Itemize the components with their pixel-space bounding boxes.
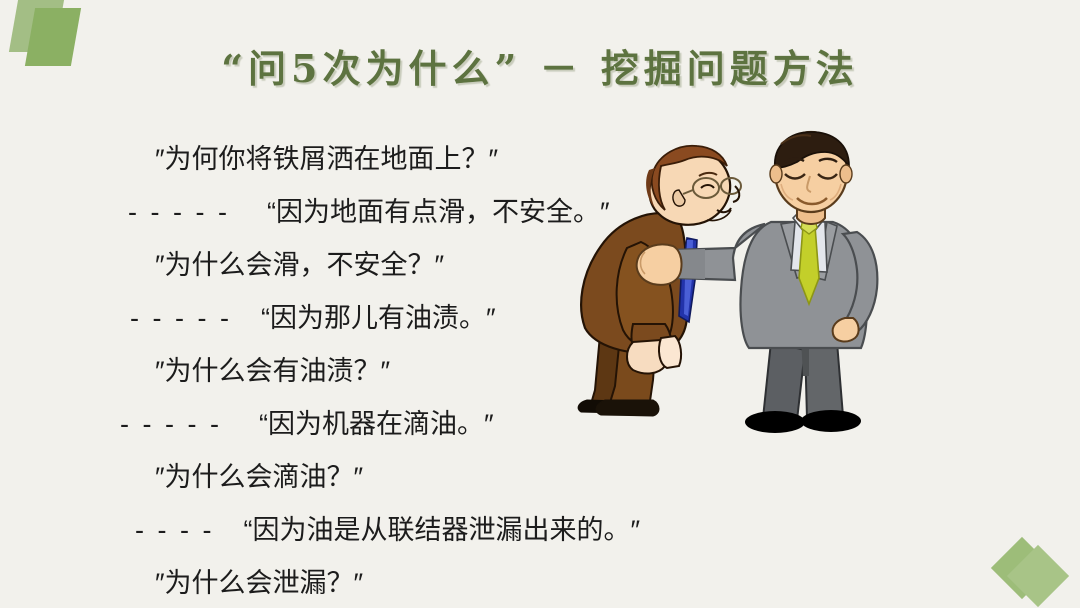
answer-text-4: “因为油是从联结器泄漏出来的。″ — [244, 515, 641, 545]
question-text-4: ″为什么会滴油？″ — [155, 462, 363, 492]
slide-title: “问5次为什么” － 挖掘问题方法 — [0, 38, 1080, 93]
answer-dash-4: - - - - — [135, 515, 214, 545]
answer-dash-3: - - - - - — [120, 409, 222, 439]
slide-canvas: “问5次为什么” － 挖掘问题方法 ″为何你将铁屑洒在地面上？″ - - - -… — [0, 0, 1080, 608]
question-text-5: ″为什么会泄漏？″ — [155, 568, 363, 598]
answer-text-1: “因为地面有点滑，不安全。″ — [267, 197, 610, 227]
answer-text-3: “因为机器在滴油。″ — [259, 409, 494, 439]
dialogue-line-question-1: ″为何你将铁屑洒在地面上？″ — [0, 133, 640, 186]
question-text-3: ″为什么会有油渍？″ — [155, 356, 390, 386]
shoe-left — [745, 411, 805, 433]
answer-text-2: “因为那儿有油渍。″ — [261, 303, 496, 333]
shoe-right — [801, 410, 861, 432]
dialogue-line-answer-2: - - - - - “因为那儿有油渍。″ — [0, 292, 640, 345]
question-text-1: ″为何你将铁屑洒在地面上？″ — [155, 144, 498, 174]
dialogue-line-question-5: ″为什么会泄漏？″ — [0, 557, 640, 608]
answer-dash-2: - - - - - — [130, 303, 232, 333]
dialogue-line-answer-1: - - - - - “因为地面有点滑，不安全。″ — [0, 186, 640, 239]
dialogue-line-question-4: ″为什么会滴油？″ — [0, 451, 640, 504]
dialogue-line-question-3: ″为什么会有油渍？″ — [0, 345, 640, 398]
dialogue-block: ″为何你将铁屑洒在地面上？″ - - - - - “因为地面有点滑，不安全。″ … — [0, 133, 640, 608]
dialogue-line-question-2: ″为什么会滑，不安全？″ — [0, 239, 640, 292]
question-text-2: ″为什么会滑，不安全？″ — [155, 250, 444, 280]
answer-dash-1: - - - - - — [128, 197, 230, 227]
dialogue-line-answer-4: - - - - “因为油是从联结器泄漏出来的。″ — [0, 504, 640, 557]
illustration-boss-and-employee — [575, 128, 905, 438]
dialogue-line-answer-3: - - - - - “因为机器在滴油。″ — [0, 398, 640, 451]
